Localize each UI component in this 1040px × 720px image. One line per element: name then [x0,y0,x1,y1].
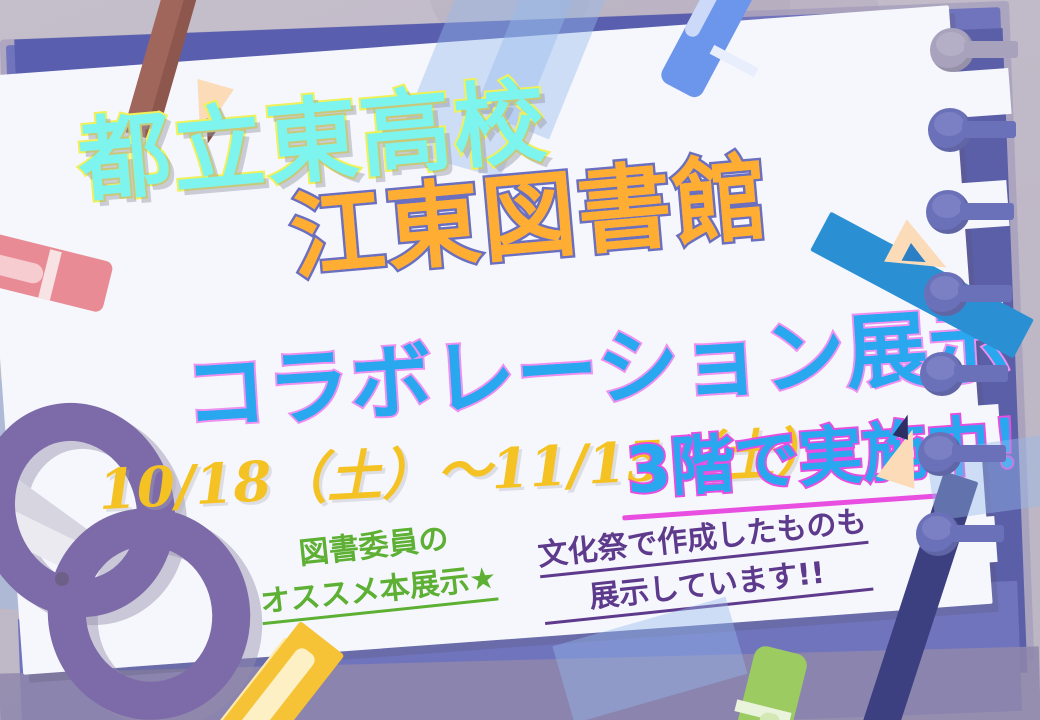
spiral-ring [920,352,986,382]
spiral-ring-bar [958,285,1012,302]
spiral-ring-bar [954,365,1008,382]
green-note: 図書委員の オススメ本展示★ [254,520,498,625]
spiral-ring-bar [964,41,1018,58]
spiral-ring [926,190,992,220]
spiral-ring-bar [960,203,1014,220]
spiral-ring [930,28,996,58]
poster-canvas: 都立東高校 江東図書館 江東図書館 コラボレーション展示 コラボレーション展示 … [0,0,1040,720]
spiral-ring-highlight [926,356,956,380]
spiral-ring-bar [962,121,1016,138]
text-layer: 都立東高校 江東図書館 江東図書館 コラボレーション展示 コラボレーション展示 … [0,0,1040,720]
spiral-ring-bar [950,525,1004,542]
spiral-ring-highlight [930,276,960,300]
spiral-ring [924,272,990,302]
spiral-ring-highlight [932,194,962,218]
spiral-ring [918,432,984,462]
green-note-line-2: オススメ本展示★ [259,564,498,626]
spiral-ring-bar [952,445,1006,462]
spiral-ring-highlight [934,112,964,136]
spiral-ring-highlight [936,32,966,56]
spiral-ring [928,108,994,138]
spiral-ring-highlight [924,436,954,460]
spiral-ring [916,512,982,542]
spiral-ring-highlight [922,516,952,540]
